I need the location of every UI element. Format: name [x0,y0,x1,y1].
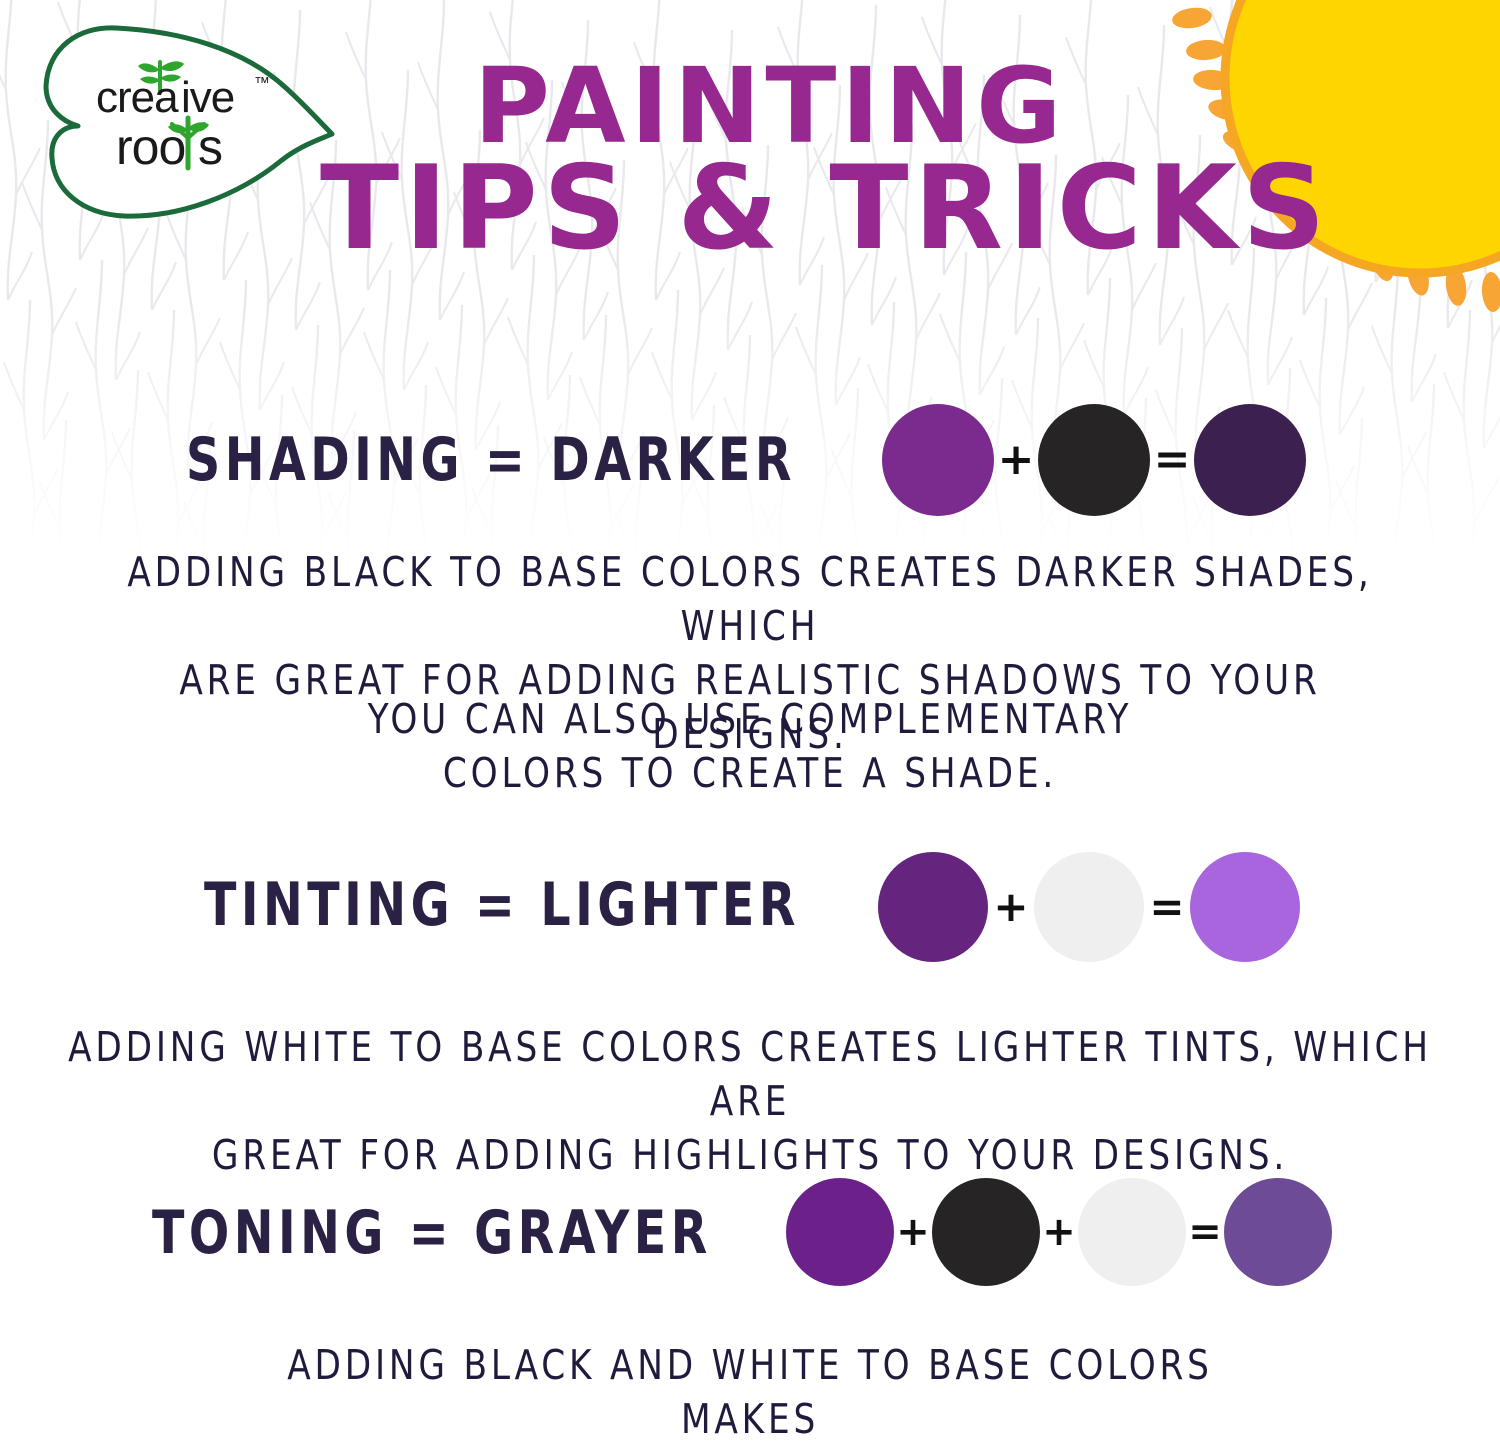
result-dark-purple-swatch [1194,404,1306,516]
base-purple-swatch [786,1178,894,1286]
body-text-complementary: YOU CAN ALSO USE COMPLEMENTARY COLORS TO… [276,692,1225,800]
equals-operator: = [1186,1212,1224,1252]
title-line-2: TIPS & TRICKS [320,155,1220,263]
heading-text-shading: SHADING = DARKER [186,425,796,495]
black-swatch [1038,404,1150,516]
svg-text:ive: ive [181,73,234,122]
swatch-row-shading: + = [882,404,1306,516]
infographic-page: crea ive ™ roo s [0,0,1500,1443]
white-swatch [1078,1178,1186,1286]
equals-operator: = [1144,886,1190,928]
black-swatch [932,1178,1040,1286]
heading-text-toning: TONING = GRAYER [152,1198,712,1268]
plus-operator-2: + [1040,1212,1078,1252]
swatch-row-tinting: + = [878,852,1300,962]
section-heading-toning: TONING = GRAYER [152,1198,788,1268]
result-light-purple-swatch [1190,852,1300,962]
creative-roots-logo: crea ive ™ roo s [38,18,338,238]
equals-operator: = [1150,438,1194,482]
section-heading-tinting: TINTING = LIGHTER [204,870,881,940]
plus-operator: + [994,438,1038,482]
body-text-toning: ADDING BLACK AND WHITE TO BASE COLORS MA… [220,1338,1280,1443]
base-purple-swatch [882,404,994,516]
plus-operator: + [894,1212,932,1252]
white-swatch [1034,852,1144,962]
result-muted-purple-swatch [1224,1178,1332,1286]
section-heading-shading: SHADING = DARKER [186,425,879,495]
svg-text:crea: crea [96,73,179,122]
heading-text-tinting: TINTING = LIGHTER [204,870,800,940]
page-title: PAINTING TIPS & TRICKS [320,58,1220,263]
swatch-row-toning: + + = [786,1178,1332,1286]
svg-text:™: ™ [254,75,270,92]
body-text-tinting: ADDING WHITE TO BASE COLORS CREATES LIGH… [60,1020,1440,1182]
plus-operator: + [988,886,1034,928]
base-purple-swatch [878,852,988,962]
